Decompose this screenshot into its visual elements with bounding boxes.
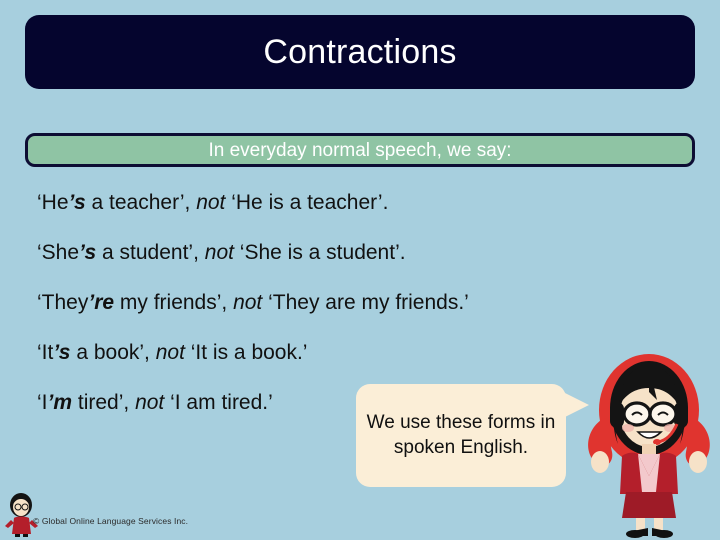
not-word: not: [233, 291, 262, 314]
character-illustration: [578, 352, 720, 540]
predicate: tired’,: [72, 391, 135, 414]
list-item: ‘They’re my friends’, not ‘They are my f…: [37, 292, 677, 313]
contraction: ’s: [79, 241, 96, 264]
predicate: a teacher’,: [86, 191, 197, 214]
full-form: ‘She is a student’.: [234, 241, 406, 264]
not-word: not: [156, 341, 185, 364]
intro-banner: In everyday normal speech, we say:: [25, 133, 695, 167]
list-item: ‘He’s a teacher’, not ‘He is a teacher’.: [37, 192, 677, 213]
speech-bubble-text: We use these forms in spoken English.: [356, 411, 566, 460]
slide-canvas: Contractions In everyday normal speech, …: [0, 0, 720, 540]
contraction: ’m: [48, 391, 73, 414]
predicate: a book’,: [70, 341, 155, 364]
contraction: ’re: [88, 291, 114, 314]
speech-bubble: We use these forms in spoken English.: [356, 384, 566, 487]
full-form: ‘He is a teacher’.: [225, 191, 388, 214]
subject: They: [42, 291, 89, 314]
contraction: ’s: [53, 341, 70, 364]
subject: She: [42, 241, 79, 264]
full-form: ‘They are my friends.’: [262, 291, 469, 314]
subject: It: [42, 341, 54, 364]
full-form: ‘I am tired.’: [164, 391, 273, 414]
page-title: Contractions: [263, 35, 456, 69]
contraction: ’s: [69, 191, 86, 214]
copyright-text: © Global Online Language Services Inc.: [33, 516, 188, 526]
full-form: ‘It is a book.’: [185, 341, 308, 364]
list-item: ‘She’s a student’, not ‘She is a student…: [37, 242, 677, 263]
not-word: not: [196, 191, 225, 214]
not-word: not: [135, 391, 164, 414]
predicate: my friends’,: [114, 291, 233, 314]
company-mascot-logo: [2, 492, 40, 538]
not-word: not: [205, 241, 234, 264]
predicate: a student’,: [96, 241, 205, 264]
subject: He: [42, 191, 69, 214]
title-box: Contractions: [25, 15, 695, 89]
intro-banner-label: In everyday normal speech, we say:: [208, 141, 511, 160]
